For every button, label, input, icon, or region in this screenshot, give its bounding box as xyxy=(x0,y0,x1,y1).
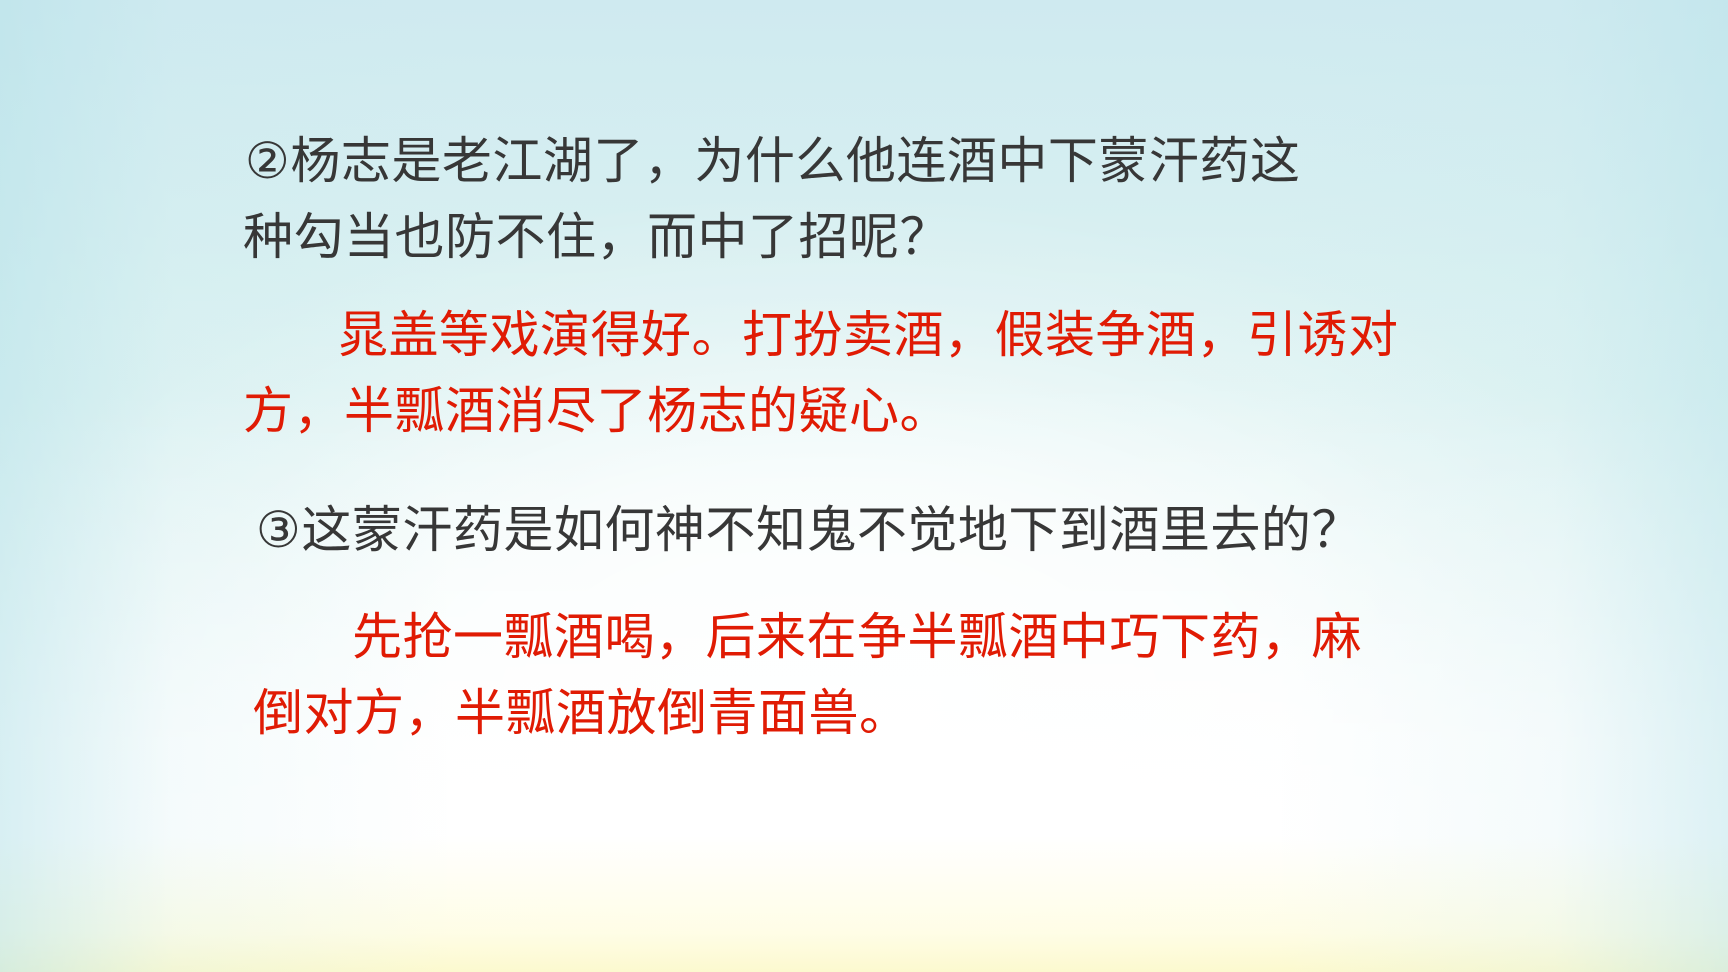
answer-2-line-1: 晁盖等戏演得好。打扮卖酒，假装争酒，引诱对 xyxy=(338,310,1399,360)
slide-canvas: ②杨志是老江湖了，为什么他连酒中下蒙汗药这 种勾当也防不住，而中了招呢？ 晁盖等… xyxy=(0,0,1728,972)
question-2-line-2: 种勾当也防不住，而中了招呢？ xyxy=(243,212,950,262)
slide-content: ②杨志是老江湖了，为什么他连酒中下蒙汗药这 种勾当也防不住，而中了招呢？ 晁盖等… xyxy=(0,0,1728,972)
answer-2-line-2: 方，半瓢酒消尽了杨志的疑心。 xyxy=(243,386,950,436)
question-2-line-1: ②杨志是老江湖了，为什么他连酒中下蒙汗药这 xyxy=(245,136,1300,186)
answer-3-line-2: 倒对方，半瓢酒放倒青面兽。 xyxy=(253,688,910,738)
answer-3-line-1: 先抢一瓢酒喝，后来在争半瓢酒中巧下药，麻 xyxy=(352,612,1362,662)
question-3-line-1: ③这蒙汗药是如何神不知鬼不觉地下到酒里去的？ xyxy=(256,505,1362,555)
